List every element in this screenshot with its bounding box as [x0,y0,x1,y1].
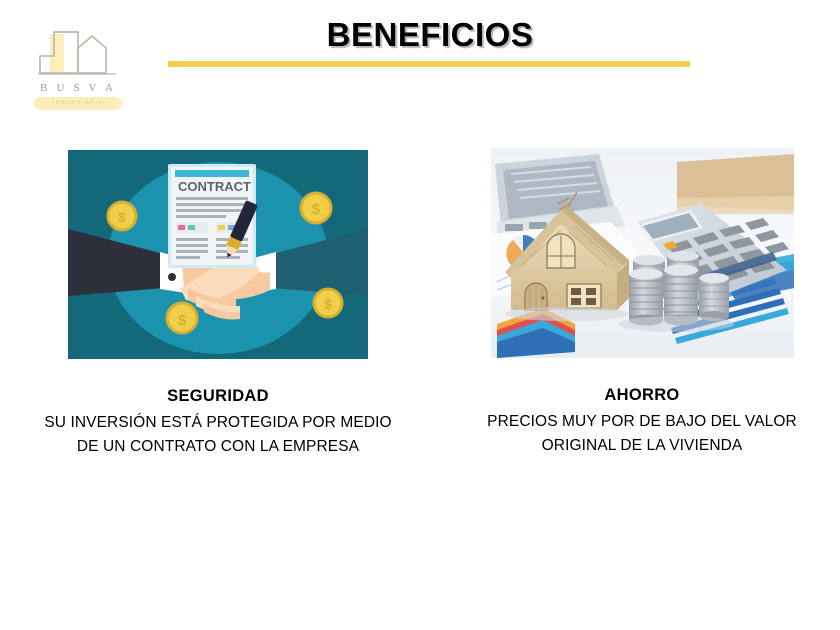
svg-text:$: $ [178,312,187,329]
svg-text:$: $ [312,201,321,218]
logo-wordmark: B U S V A [24,82,132,94]
benefit-heading: AHORRO [454,385,830,405]
benefit-caption-ahorro: AHORRO PRECIOS MUY POR DE BAJO DEL VALOR… [454,385,830,458]
brand-logo: B U S V A INMOBILIARIA [24,26,132,110]
svg-text:$: $ [118,209,126,225]
title-underline-rule [168,61,690,67]
handshake-contract-illustration: CONTRACT [68,150,368,359]
benefit-heading: SEGURIDAD [30,386,406,406]
model-house-coins-calculator-photo [491,148,794,358]
benefit-body: PRECIOS MUY POR DE BAJO DEL VALOR ORIGIN… [454,410,830,458]
coin-icon: $ [314,289,342,317]
coin-icon: $ [108,202,136,230]
svg-text:$: $ [324,296,332,312]
logo-tagline: INMOBILIARIA [34,98,122,109]
benefit-card-seguridad: CONTRACT [30,148,406,459]
document-label-text: CONTRACT [178,179,251,194]
benefit-body: SU INVERSIÓN ESTÁ PROTEGIDA POR MEDIO DE… [30,411,406,459]
building-icon [34,26,124,80]
slide-header: B U S V A INMOBILIARIA BENEFICIOS [0,0,840,120]
benefit-caption-seguridad: SEGURIDAD SU INVERSIÓN ESTÁ PROTEGIDA PO… [30,386,406,459]
coin-icon: $ [167,303,197,333]
page-title: BENEFICIOS [170,16,690,54]
coin-icon: $ [301,193,331,223]
benefit-card-ahorro: AHORRO PRECIOS MUY POR DE BAJO DEL VALOR… [454,148,830,458]
